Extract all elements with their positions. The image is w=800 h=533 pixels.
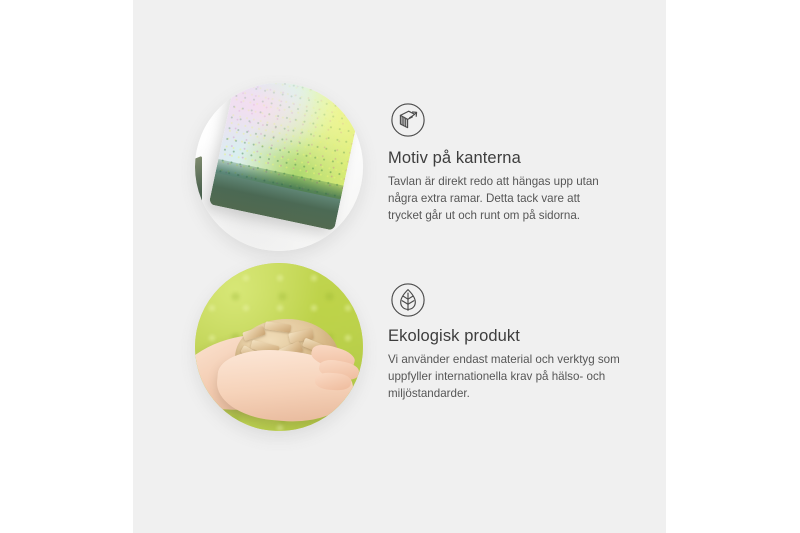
- canvas-edge-print-icon: [388, 100, 428, 140]
- feature-text-eco: Ekologisk produkt Vi använder endast mat…: [388, 326, 656, 403]
- promo-graphic: Motiv på kanterna Tavlan är direkt redo …: [0, 0, 800, 533]
- feature-title: Motiv på kanterna: [388, 148, 656, 169]
- feature-body: Vi använder endast material och verktyg …: [388, 351, 656, 403]
- hands-with-wood-chips-photo: [195, 263, 363, 431]
- canvas-edge-photo: [195, 83, 363, 251]
- leaf-icon: [388, 280, 428, 320]
- feature-body: Tavlan är direkt redo att hängas upp uta…: [388, 173, 656, 225]
- feature-text-edges: Motiv på kanterna Tavlan är direkt redo …: [388, 148, 656, 225]
- canvas-stretcher-side: [195, 156, 202, 224]
- feature-row-edges: Motiv på kanterna Tavlan är direkt redo …: [133, 78, 666, 258]
- feature-title: Ekologisk produkt: [388, 326, 656, 347]
- content-panel: Motiv på kanterna Tavlan är direkt redo …: [133, 0, 666, 533]
- feature-row-eco: Ekologisk produkt Vi använder endast mat…: [133, 258, 666, 438]
